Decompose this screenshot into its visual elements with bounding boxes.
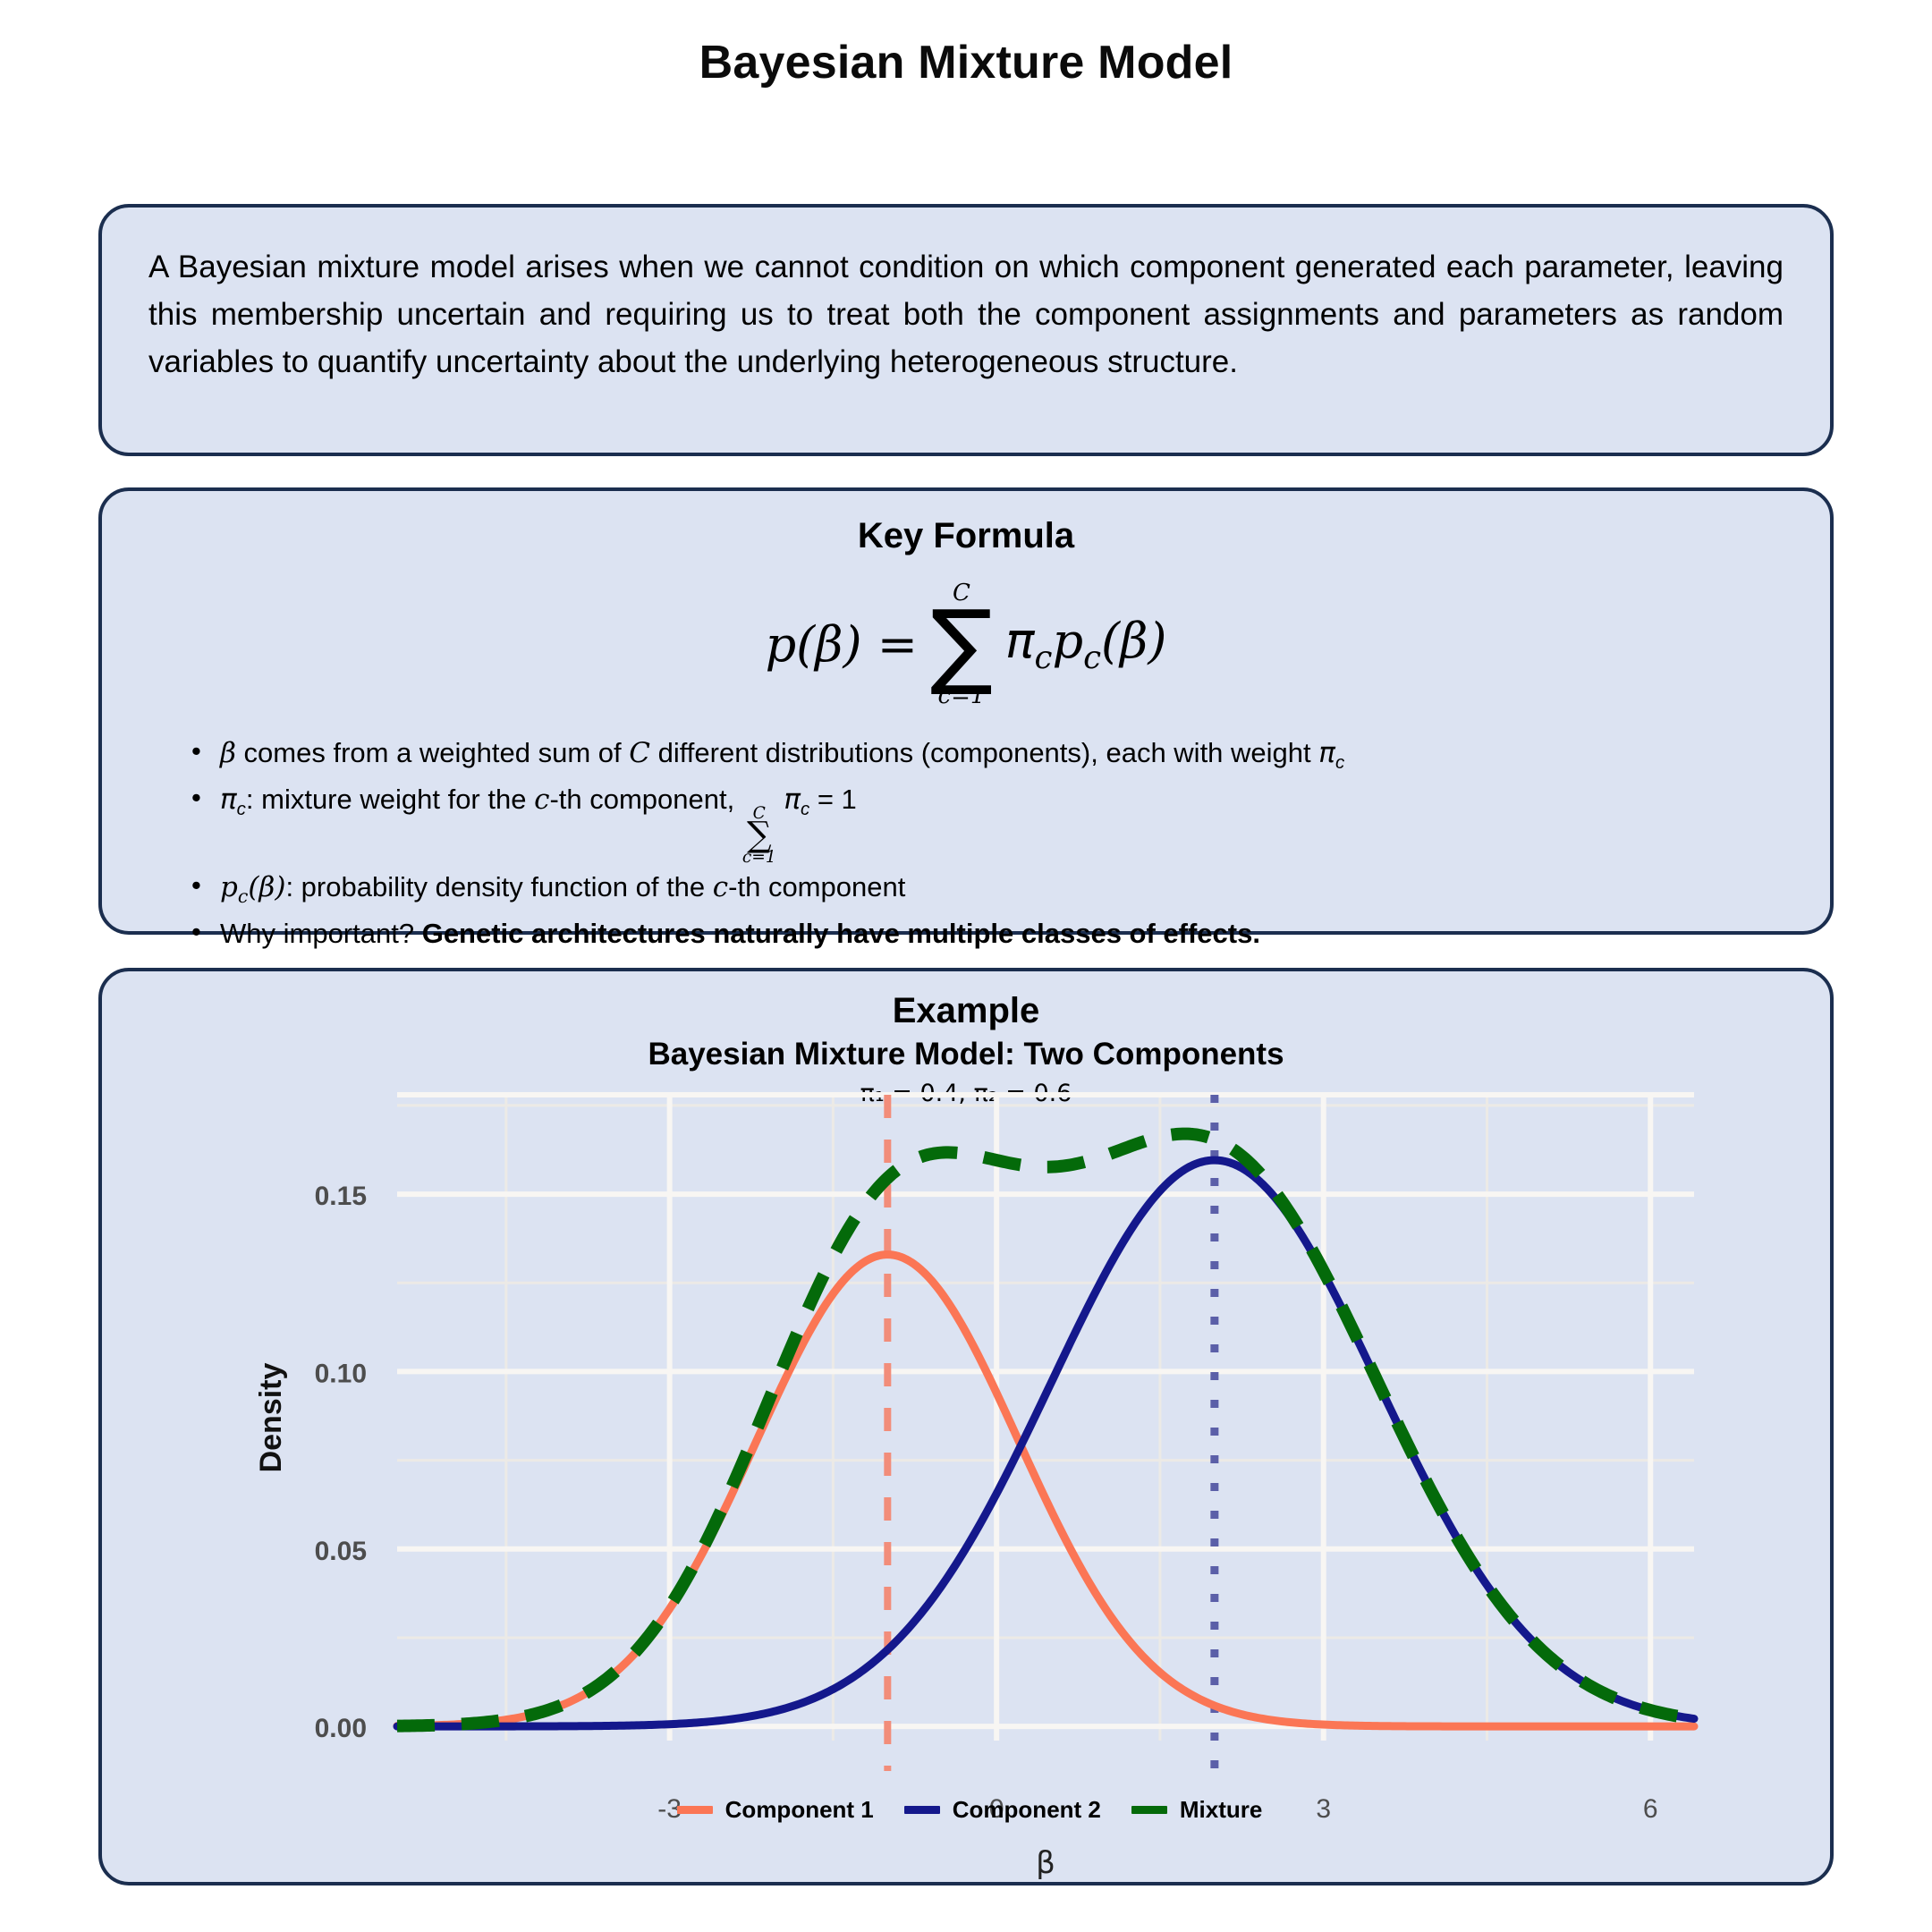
bullet-beta-definition: β comes from a weighted sum of C differe…: [188, 731, 1776, 777]
curve-component-2: [397, 1160, 1694, 1726]
legend-swatch-icon: [904, 1806, 940, 1814]
legend-item-3[interactable]: Mixture: [1131, 1796, 1262, 1824]
bullet-why-lead: Why important?: [220, 918, 422, 949]
example-card: Example Bayesian Mixture Model: Two Comp…: [98, 968, 1834, 1885]
bullet-why-important: Why important? Genetic architectures nat…: [188, 911, 1776, 956]
chart-title: Bayesian Mixture Model: Two Components: [102, 1031, 1830, 1072]
chart-svg: 0.000.050.100.15-3036βDensity: [102, 1079, 1837, 1884]
legend-item-2[interactable]: Component 2: [904, 1796, 1101, 1824]
key-formula-expression: p(β) = C ∑ c=1 πcpc(β): [102, 562, 1830, 727]
curve-component-1: [397, 1255, 1694, 1727]
formula-lhs: p(β) =: [766, 616, 918, 673]
legend-item-1[interactable]: Component 1: [677, 1796, 874, 1824]
summation-operator: C ∑ c=1: [930, 581, 993, 708]
mixture-density-chart: 0.000.050.100.15-3036βDensity: [102, 1079, 1837, 1884]
formula-bullet-list: β comes from a weighted sum of C differe…: [102, 727, 1830, 956]
y-tick-label: 0.10: [315, 1359, 367, 1388]
pi-subscript: c: [1035, 640, 1053, 676]
bullet-pc-definition: pc(β): probability density function of t…: [188, 865, 1776, 911]
chart-legend: Component 1Component 2Mixture: [102, 1796, 1837, 1824]
description-text: A Bayesian mixture model arises when we …: [102, 208, 1830, 386]
y-axis-label: Density: [254, 1363, 288, 1473]
legend-swatch-icon: [677, 1806, 713, 1814]
bullet-why-bold: Genetic architectures naturally have mul…: [422, 918, 1260, 949]
p-symbol: p: [1053, 613, 1084, 669]
legend-label: Mixture: [1180, 1796, 1262, 1824]
legend-label: Component 1: [725, 1796, 874, 1824]
x-axis-label: β: [1036, 1845, 1055, 1881]
p-argument: (β): [1101, 613, 1166, 669]
y-tick-label: 0.05: [315, 1537, 367, 1566]
bullet-pi-definition: πc: mixture weight for the c-th componen…: [188, 777, 1776, 864]
poster-page: Bayesian Mixture Model A Bayesian mixtur…: [0, 0, 1932, 1932]
pi-symbol: π: [1005, 613, 1035, 669]
p-subscript: c: [1083, 640, 1101, 676]
sigma-icon: ∑: [930, 605, 993, 684]
formula-rhs: πcpc(β): [1005, 613, 1166, 676]
key-formula-card: Key Formula p(β) = C ∑ c=1 πcpc(β) β com…: [98, 487, 1834, 935]
y-tick-label: 0.00: [315, 1714, 367, 1743]
page-title: Bayesian Mixture Model: [0, 0, 1932, 89]
key-formula-heading: Key Formula: [102, 491, 1830, 556]
summation-lower-limit: c=1: [938, 684, 986, 708]
y-tick-label: 0.15: [315, 1182, 367, 1211]
description-card: A Bayesian mixture model arises when we …: [98, 204, 1834, 456]
legend-label: Component 2: [953, 1796, 1101, 1824]
legend-swatch-icon: [1131, 1806, 1167, 1814]
example-heading: Example: [102, 971, 1830, 1031]
